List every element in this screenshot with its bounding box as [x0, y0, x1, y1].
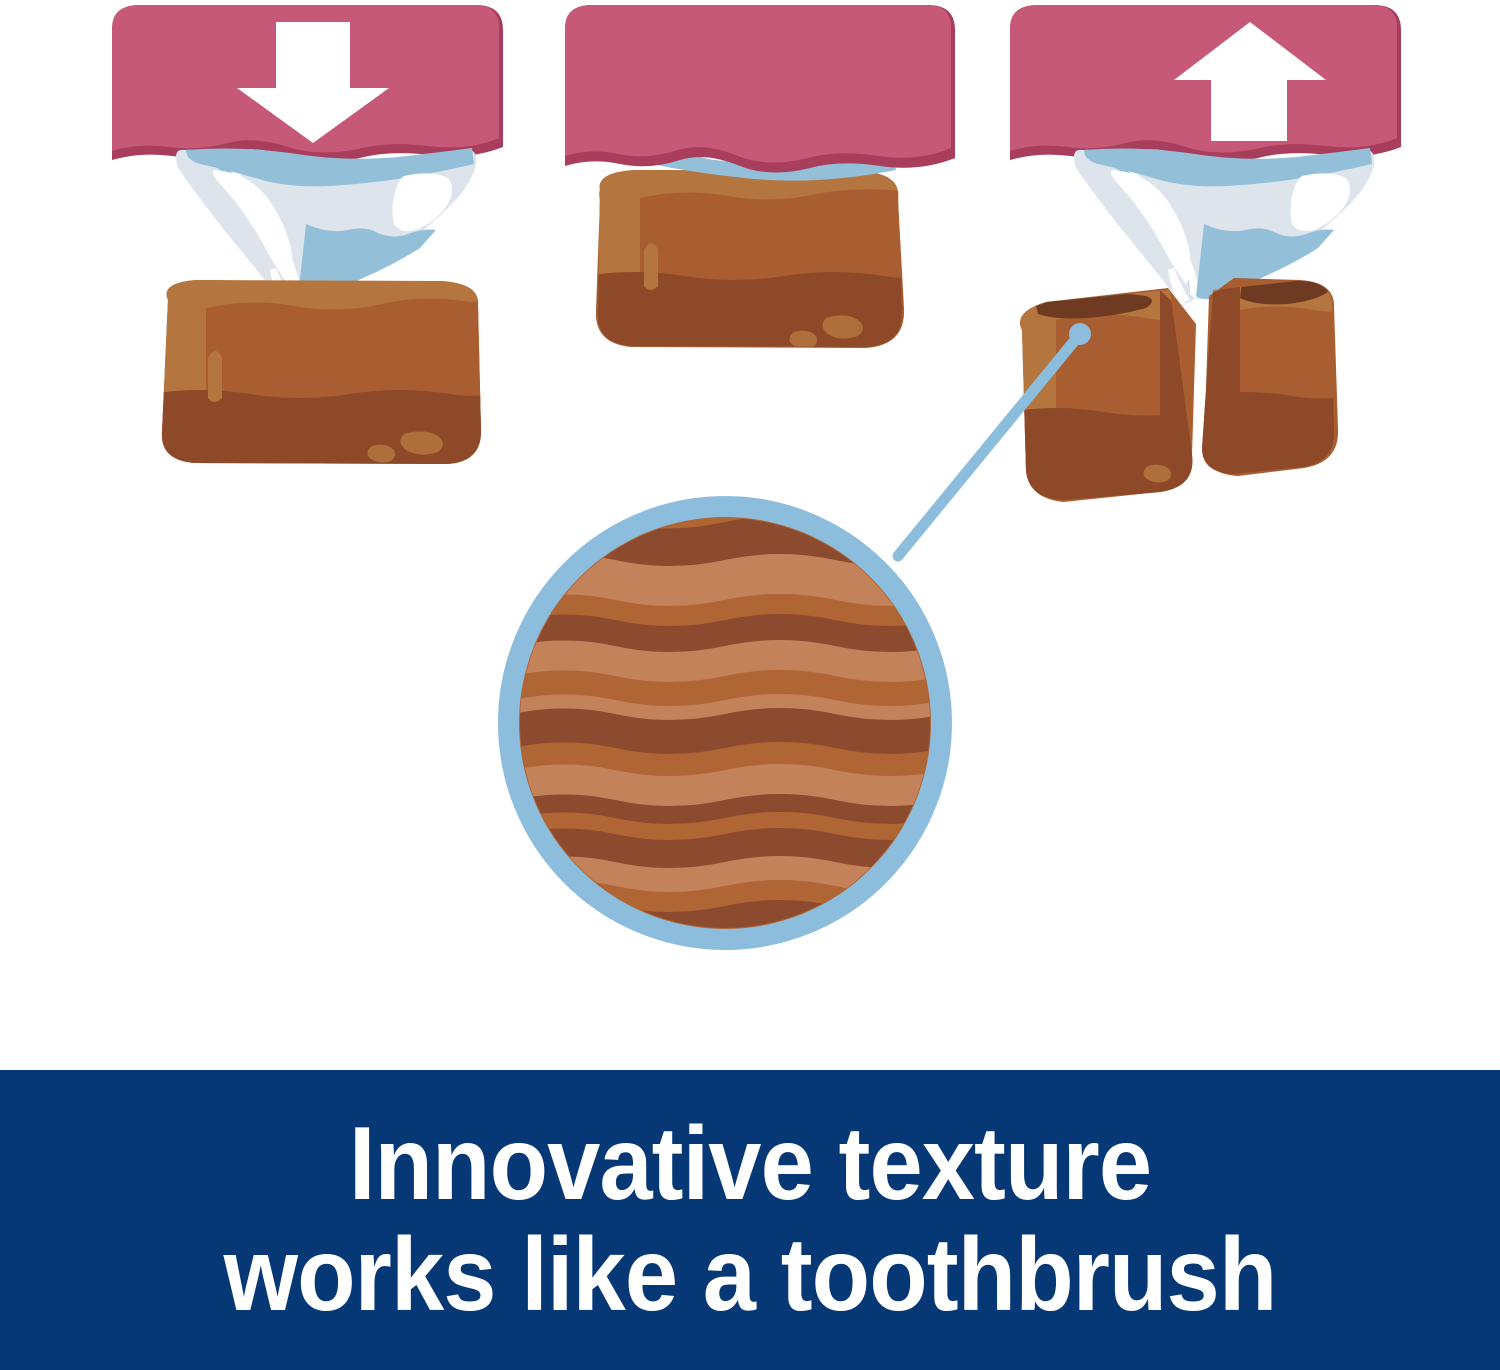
headline-text: Innovative texture works like a toothbru…: [60, 1109, 1440, 1332]
kibble-broken-left: [1008, 274, 1204, 516]
kibble-bottom-shadow-2: [585, 272, 916, 366]
kibble-notch-1: [208, 351, 222, 402]
kibble-bottom-shadow-1: [150, 390, 500, 480]
kibble-intact-1: [150, 276, 500, 480]
kibble-midtone-1: [206, 298, 498, 400]
kibble-midtone-2: [640, 189, 912, 284]
gum-block-2: [565, 5, 955, 173]
texture-magnifier: [505, 500, 945, 960]
panel-bite-down: [112, 5, 503, 480]
dental-treat-illustration: [0, 0, 1500, 1070]
headline-banner: Innovative texture works like a toothbru…: [0, 1070, 1500, 1370]
gum-face-2: [565, 5, 951, 163]
panel-lift-up: [1008, 5, 1401, 516]
gum-block-3: [1010, 5, 1401, 162]
kibble-right-midtone: [1230, 306, 1350, 396]
tooth-highlight-right-1: [392, 173, 452, 231]
panel-chewing: [565, 5, 955, 366]
screenshot-root: Innovative texture works like a toothbru…: [0, 0, 1500, 1370]
tooth-3: [1074, 148, 1374, 303]
tooth-1: [176, 148, 476, 303]
kibble-broken-right: [1196, 268, 1352, 492]
gum-block-1: [112, 5, 503, 162]
illustration-svg: [0, 0, 1500, 1070]
kibble-notch-2: [644, 243, 658, 290]
kibble-engulfing-2: [585, 160, 916, 366]
tooth-highlight-right-3: [1290, 173, 1350, 231]
